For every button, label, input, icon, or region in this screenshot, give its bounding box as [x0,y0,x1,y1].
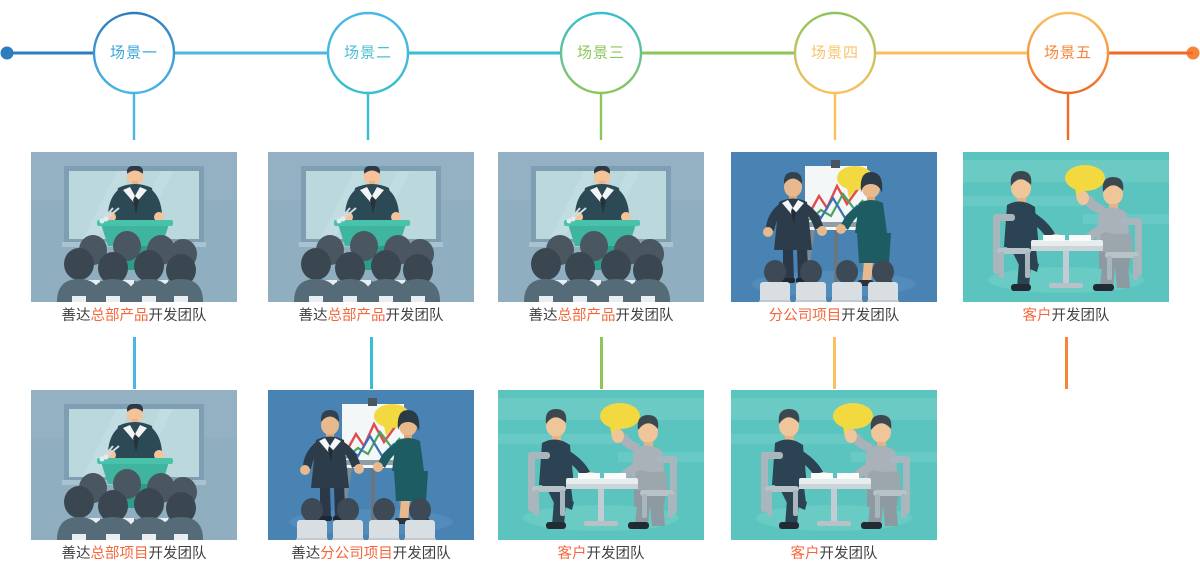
timeline-node-label-4[interactable]: 场景四 [780,46,890,61]
caption-prefix: 善达 [299,308,328,324]
lecture-podium-audience-illustration [31,390,237,540]
caption-highlight: 总部项目 [91,546,149,562]
caption-highlight: 总部产品 [91,308,149,324]
card-connector-line [600,337,603,389]
caption-suffix: 开发团队 [1052,308,1110,324]
caption-suffix: 开发团队 [149,546,207,562]
scene-card-caption: 善达总部项目开发团队 [31,546,237,563]
scene-thumbnail[interactable] [498,390,704,540]
scene-thumbnail[interactable] [498,152,704,302]
card-connector-line [1065,337,1068,389]
card-connector-line [370,337,373,389]
presentation-chart-easel-illustration [268,390,474,540]
caption-suffix: 开发团队 [616,308,674,324]
timeline-node-label-3[interactable]: 场景三 [546,46,656,61]
caption-suffix: 开发团队 [149,308,207,324]
caption-suffix: 开发团队 [587,546,645,562]
timeline-node-label-1[interactable]: 场景一 [79,46,189,61]
presentation-chart-easel-illustration [731,152,937,302]
scene-thumbnail[interactable] [963,152,1169,302]
caption-prefix: 善达 [529,308,558,324]
scene-card-caption: 客户开发团队 [498,546,704,563]
caption-highlight: 分公司项目 [769,308,842,324]
scene-thumbnail[interactable] [731,390,937,540]
scene-card-caption: 善达分公司项目开发团队 [268,546,474,563]
caption-prefix: 善达 [62,308,91,324]
caption-prefix: 善达 [62,546,91,562]
timeline-track [0,0,1200,140]
caption-suffix: 开发团队 [386,308,444,324]
two-people-meeting-table-illustration [498,390,704,540]
caption-highlight: 分公司项目 [320,546,393,562]
caption-highlight: 客户 [558,546,587,562]
scene-thumbnail[interactable] [31,152,237,302]
card-connector-line [133,337,136,389]
timeline-node-label-2[interactable]: 场景二 [313,46,423,61]
scene-thumbnail[interactable] [268,152,474,302]
scene-card-caption: 善达总部产品开发团队 [268,308,474,325]
lecture-podium-audience-illustration [31,152,237,302]
caption-suffix: 开发团队 [820,546,878,562]
caption-suffix: 开发团队 [393,546,451,562]
scene-card-caption: 分公司项目开发团队 [731,308,937,325]
caption-highlight: 客户 [1023,308,1052,324]
scene-thumbnail[interactable] [31,390,237,540]
caption-prefix: 善达 [291,546,320,562]
scene-thumbnail[interactable] [731,152,937,302]
timeline-node-label-5[interactable]: 场景五 [1013,46,1123,61]
scene-card-caption: 善达总部产品开发团队 [31,308,237,325]
caption-highlight: 客户 [791,546,820,562]
caption-highlight: 总部产品 [558,308,616,324]
scene-card-caption: 客户开发团队 [731,546,937,563]
two-people-meeting-table-illustration [963,152,1169,302]
card-connector-line [833,337,836,389]
scene-card-caption: 客户开发团队 [963,308,1169,325]
scene-thumbnail[interactable] [268,390,474,540]
scene-card-caption: 善达总部产品开发团队 [498,308,704,325]
lecture-podium-audience-illustration [498,152,704,302]
two-people-meeting-table-illustration [731,390,937,540]
lecture-podium-audience-illustration [268,152,474,302]
caption-suffix: 开发团队 [841,308,899,324]
caption-highlight: 总部产品 [328,308,386,324]
timeline-diagram: 场景一场景二场景三场景四场景五 善达总部产品开发团队善达总部产品开发团队善达总部… [0,0,1200,572]
